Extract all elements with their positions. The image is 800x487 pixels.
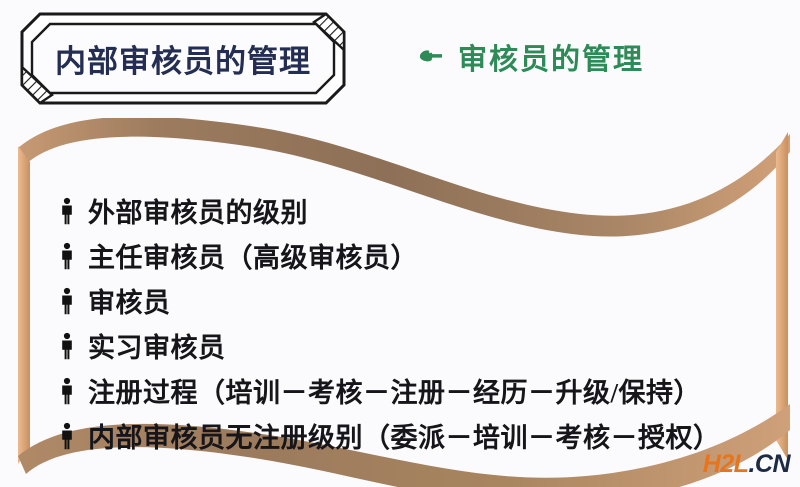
person-figure-icon [56,242,78,270]
list-item-label: 注册过程（培训－考核－注册－经历－升级/保持） [88,371,701,410]
list-item[interactable]: 注册过程（培训－考核－注册－经历－升级/保持） [56,368,776,413]
ribbon-left-rail [18,146,30,464]
list-item[interactable]: 审核员 [56,278,776,323]
watermark-secondary: .CN [748,450,790,478]
list-item-label: 主任审核员（高级审核员） [88,236,418,275]
list-item[interactable]: 内部审核员无注册级别（委派－培训－考核－授权） [56,413,776,458]
slide-canvas: 内部审核员的管理 审核员的管理 [0,0,800,487]
list-item-label: 实习审核员 [88,326,226,365]
list-item-label: 审核员 [88,281,171,320]
list-item-label: 内部审核员无注册级别（委派－培训－考核－授权） [88,416,721,455]
watermark-primary: H2L [703,450,749,478]
list-item[interactable]: 外部审核员的级别 [56,188,776,233]
list-item[interactable]: 实习审核员 [56,323,776,368]
person-figure-icon [56,197,78,225]
list-item-label: 外部审核员的级别 [88,191,308,230]
ribbon-right-rail [776,132,788,460]
pointing-hand-icon [418,48,444,66]
person-figure-icon [56,422,78,450]
watermark: H2L.CN [703,450,790,479]
person-figure-icon [56,377,78,405]
list-item[interactable]: 主任审核员（高级审核员） [56,233,776,278]
section-heading: 审核员的管理 [418,36,644,78]
title-plaque-label: 内部审核员的管理 [18,10,348,107]
person-figure-icon [56,332,78,360]
person-figure-icon [56,287,78,315]
section-heading-label: 审核员的管理 [458,36,644,78]
bullet-list: 外部审核员的级别 主任审核员（高级审核员） 审核员 实习审核员 [56,188,776,458]
title-plaque: 内部审核员的管理 [18,10,348,107]
